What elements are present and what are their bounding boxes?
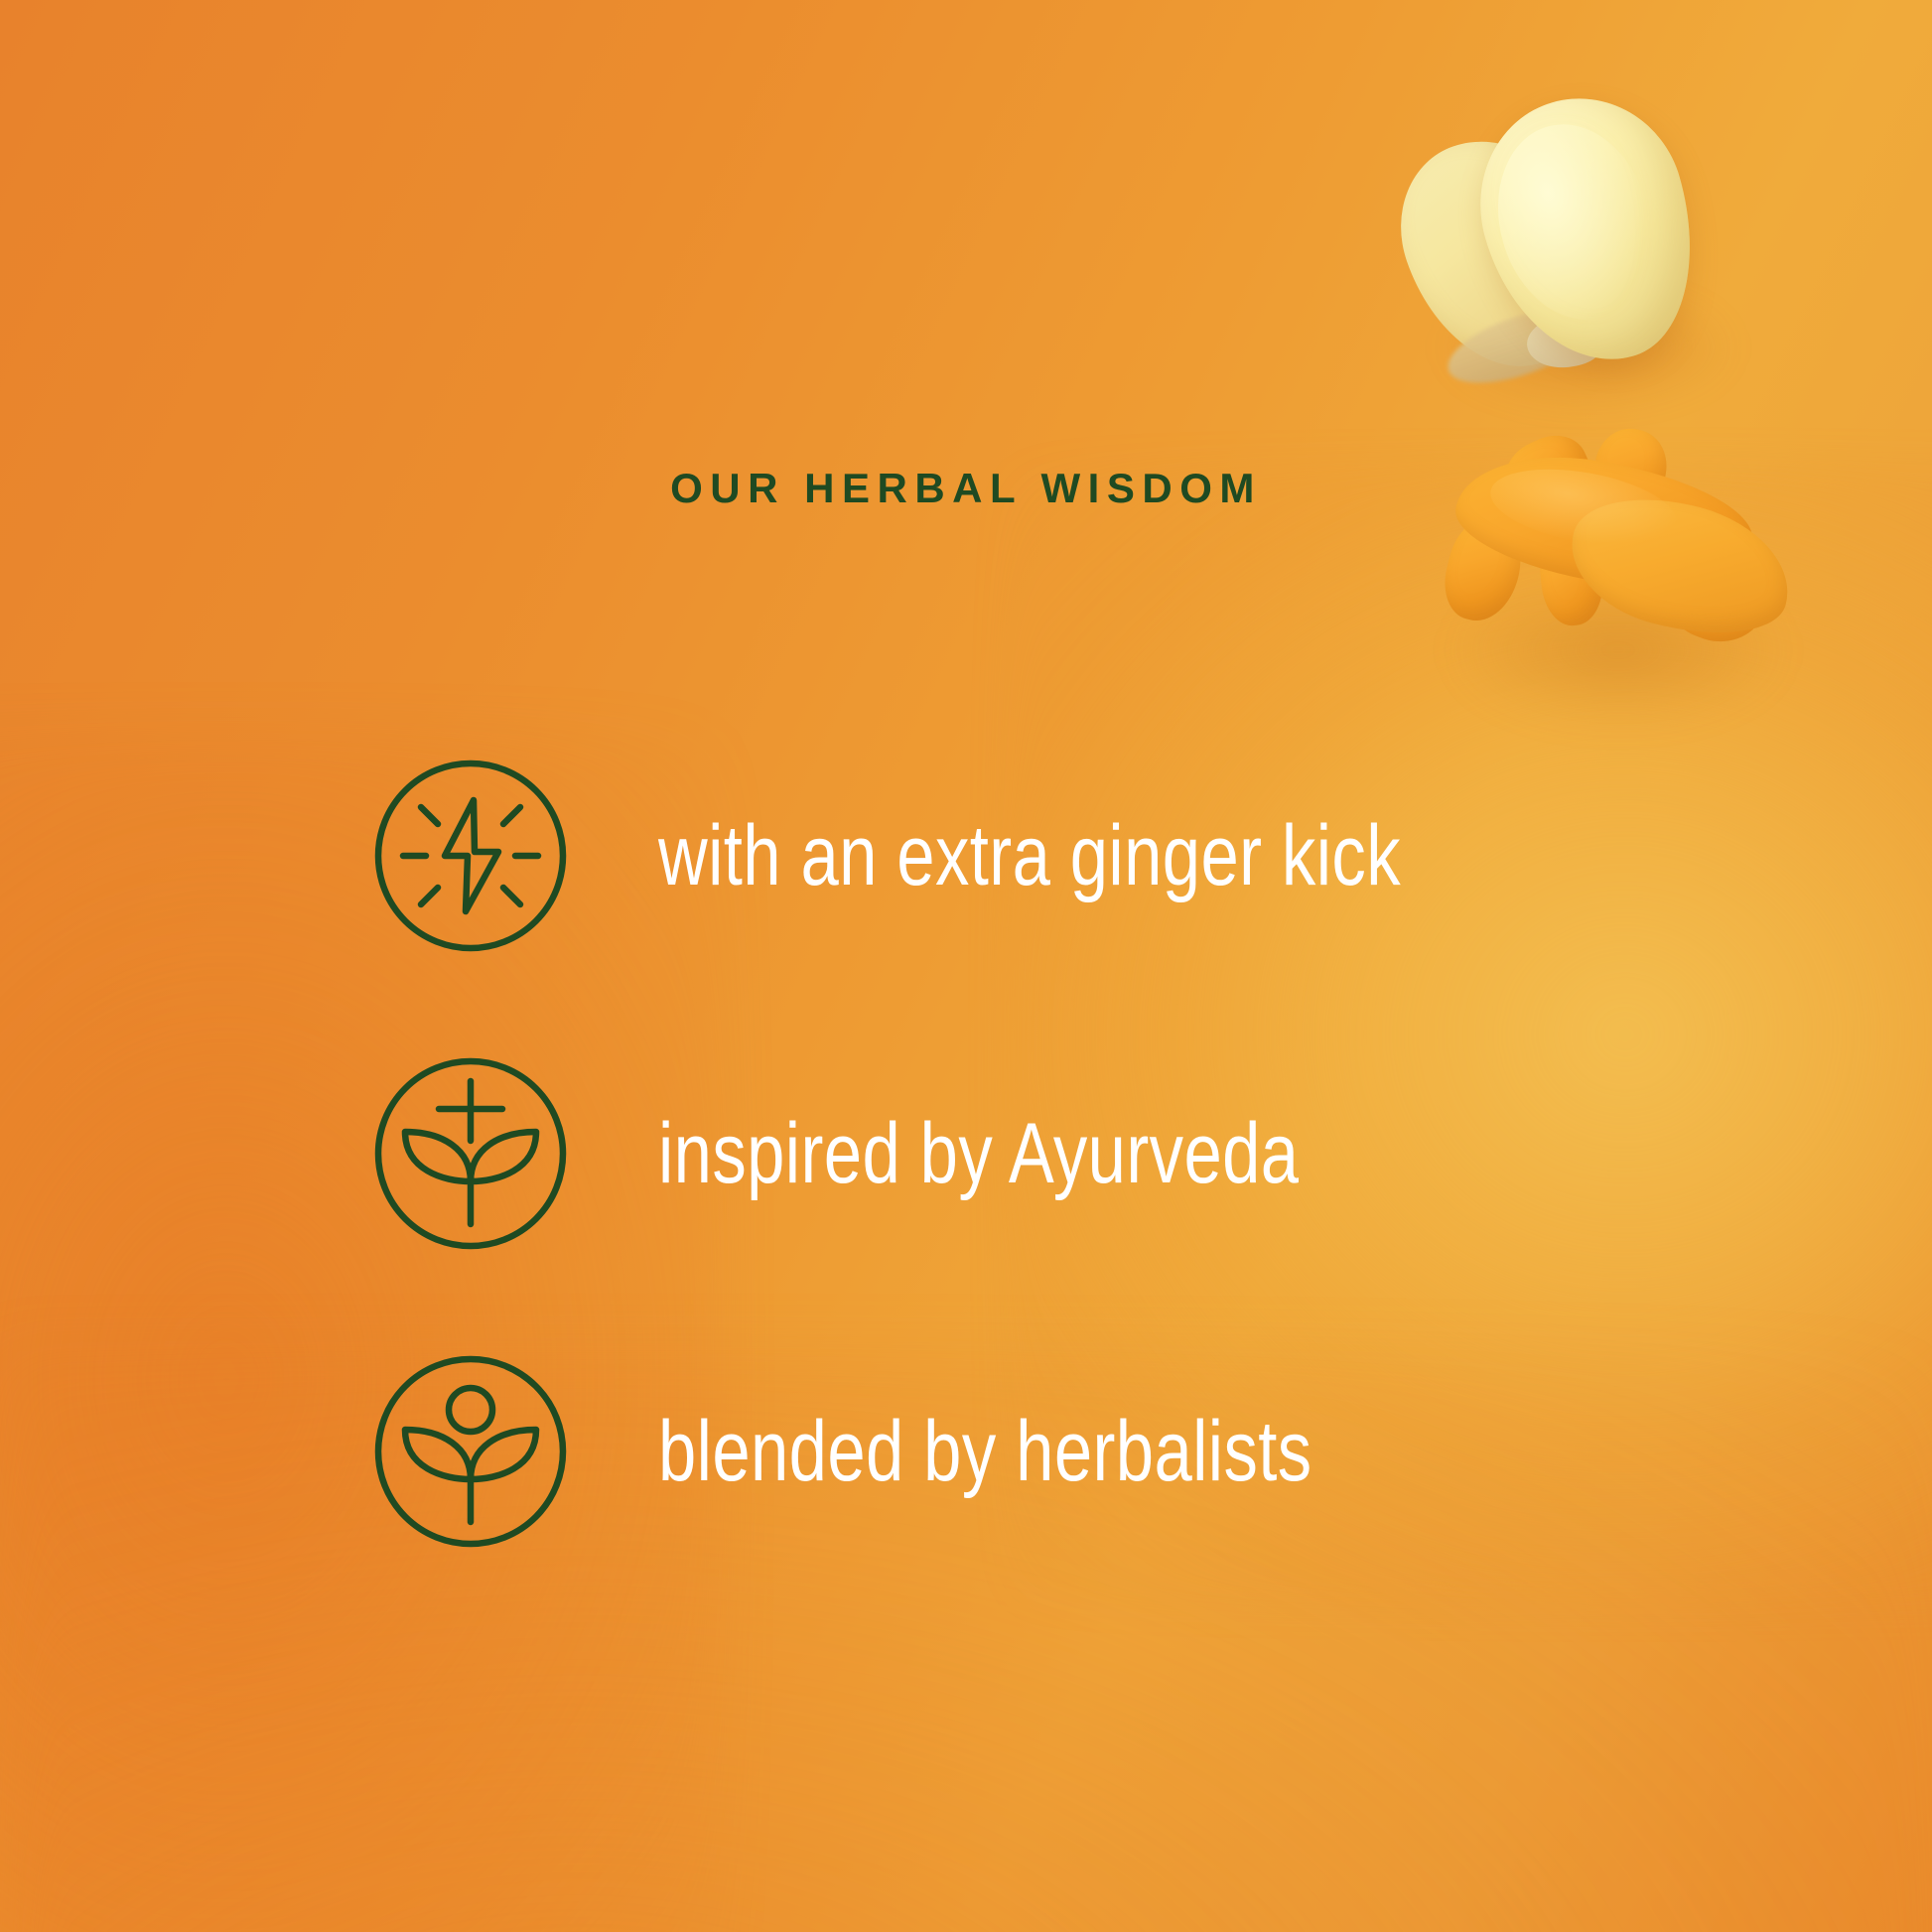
list-item: blended by herbalists <box>371 1352 1781 1551</box>
plant-bloom-icon <box>371 1352 570 1551</box>
list-item: inspired by Ayurveda <box>371 1054 1781 1253</box>
plant-plus-icon <box>371 1054 570 1253</box>
energy-bolt-icon <box>371 757 570 955</box>
ginger-slices-photo <box>1400 79 1797 407</box>
list-item-label: inspired by Ayurveda <box>658 1111 1299 1196</box>
list-item-label: with an extra ginger kick <box>658 813 1401 898</box>
benefit-list: with an extra ginger kick inspired by Ay… <box>371 757 1781 1551</box>
poster-canvas: OUR HERBAL WISDOM with <box>0 0 1932 1932</box>
list-item-label: blended by herbalists <box>658 1409 1312 1494</box>
page-title: OUR HERBAL WISDOM <box>0 465 1932 512</box>
list-item: with an extra ginger kick <box>371 757 1781 955</box>
